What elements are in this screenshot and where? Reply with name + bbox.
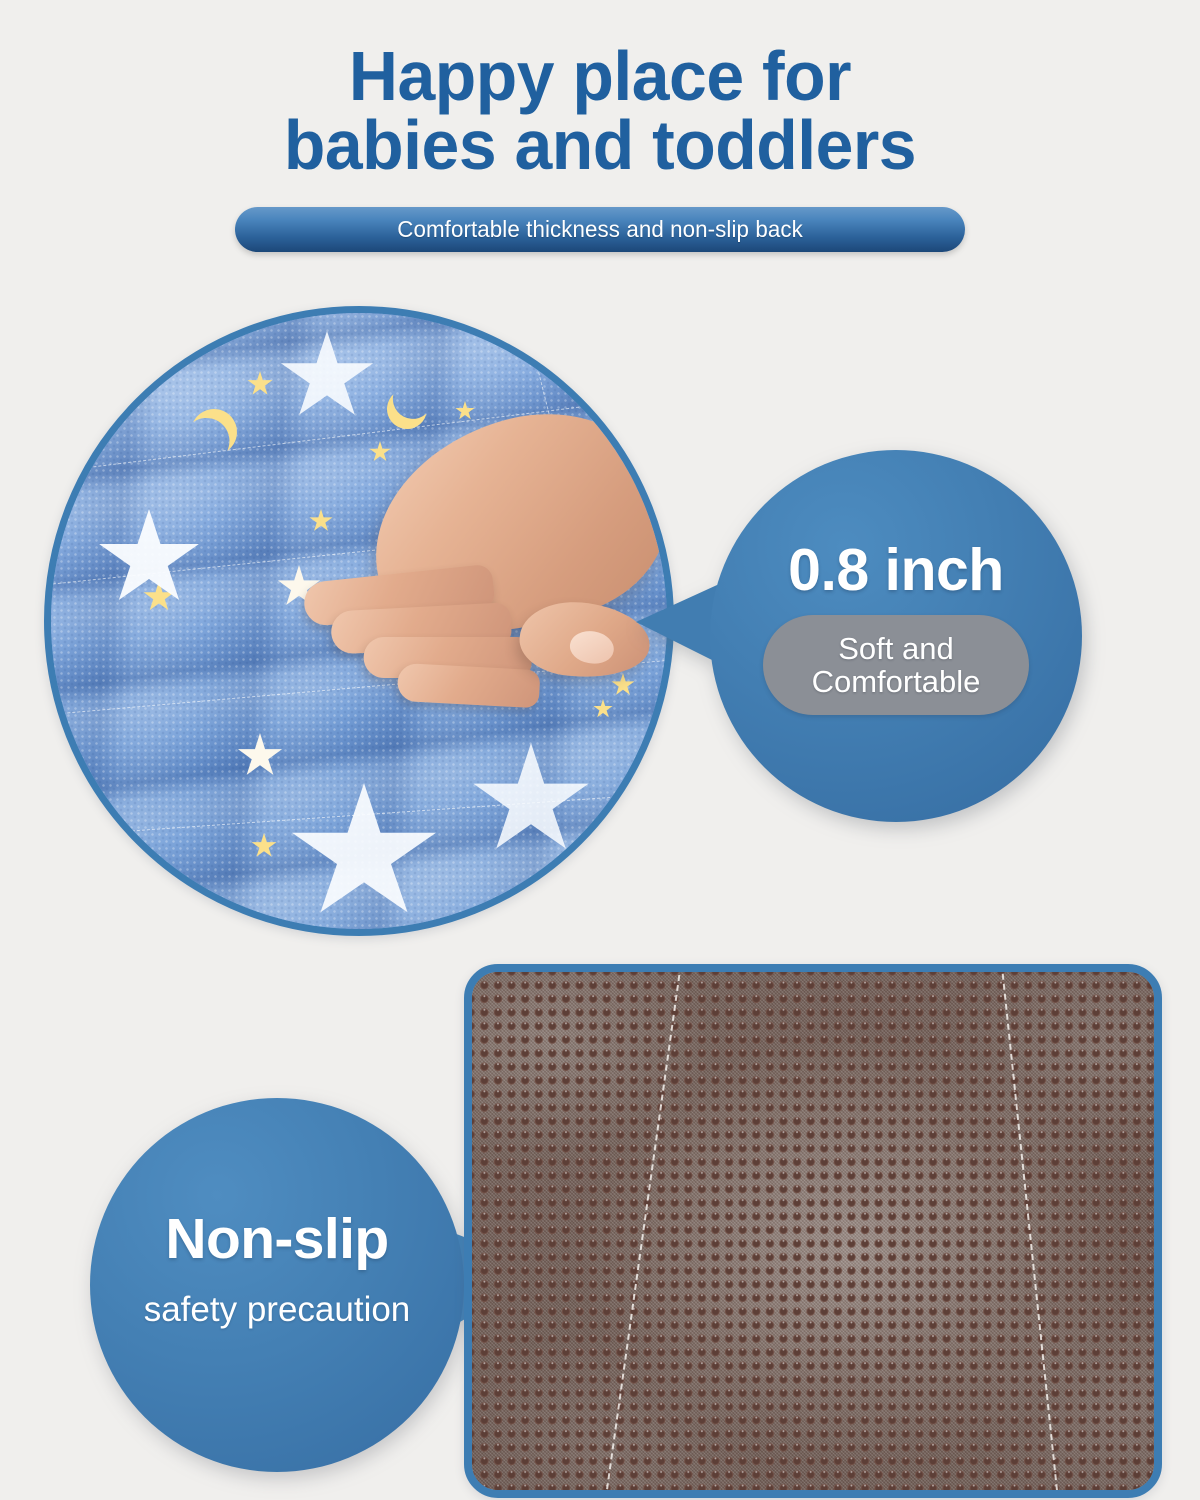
thickness-value: 0.8 inch [710, 536, 1082, 604]
nonslip-title: Non-slip [90, 1206, 464, 1272]
softness-badge-line-1: Soft and [812, 632, 981, 665]
softness-badge-line-2: Comfortable [812, 665, 981, 698]
softness-photo-circle [44, 306, 674, 936]
page-title: Happy place for babies and toddlers [18, 42, 1182, 179]
finger [397, 663, 541, 708]
product-feature-graphic: Happy place for babies and toddlers Comf… [0, 0, 1200, 1500]
subtitle-text: Comfortable thickness and non-slip back [397, 216, 803, 243]
nonslip-subtitle: safety precaution [90, 1290, 464, 1330]
headline-line-2: babies and toddlers [18, 111, 1182, 180]
nonslip-callout-bubble: Non-slip safety precaution [90, 1098, 464, 1472]
nonslip-backing-photo [464, 964, 1162, 1498]
softness-badge: Soft and Comfortable [763, 615, 1029, 715]
photo-vignette [472, 972, 1154, 1490]
thickness-callout-bubble: 0.8 inch Soft and Comfortable [710, 450, 1082, 822]
headline-line-1: Happy place for [349, 37, 851, 115]
subtitle-banner: Comfortable thickness and non-slip back [235, 207, 965, 252]
bubble-body [90, 1098, 464, 1472]
softness-badge-label: Soft and Comfortable [812, 632, 981, 699]
